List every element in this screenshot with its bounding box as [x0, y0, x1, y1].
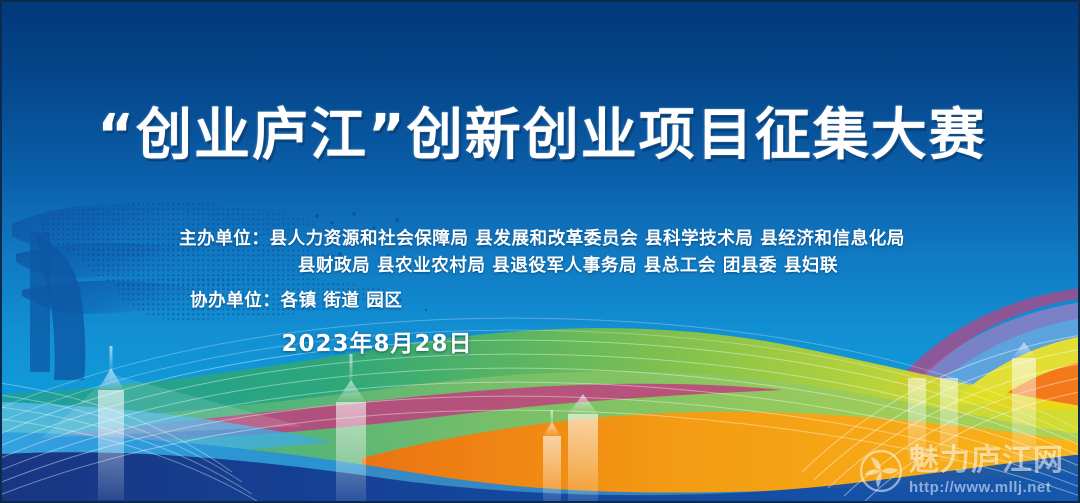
- poster-banner: “创业庐江”创新创业项目征集大赛 主办单位：县人力资源和社会保障局 县发展和改革…: [0, 0, 1080, 503]
- organizers-block: 主办单位：县人力资源和社会保障局 县发展和改革委员会 县科学技术局 县经济和信息…: [2, 226, 1080, 280]
- event-date: 2023年8月28日: [2, 324, 1080, 358]
- coorganizers-line: 协办单位：各镇 街道 园区: [190, 287, 402, 312]
- organizers-line-1: 主办单位：县人力资源和社会保障局 县发展和改革委员会 县科学技术局 县经济和信息…: [2, 226, 1080, 253]
- poster-content: “创业庐江”创新创业项目征集大赛 主办单位：县人力资源和社会保障局 县发展和改革…: [2, 2, 1080, 503]
- page-title: “创业庐江”创新创业项目征集大赛: [2, 90, 1080, 171]
- organizers-line-2: 县财政局 县农业农村局 县退役军人事务局 县总工会 团县委 县妇联: [2, 253, 1080, 280]
